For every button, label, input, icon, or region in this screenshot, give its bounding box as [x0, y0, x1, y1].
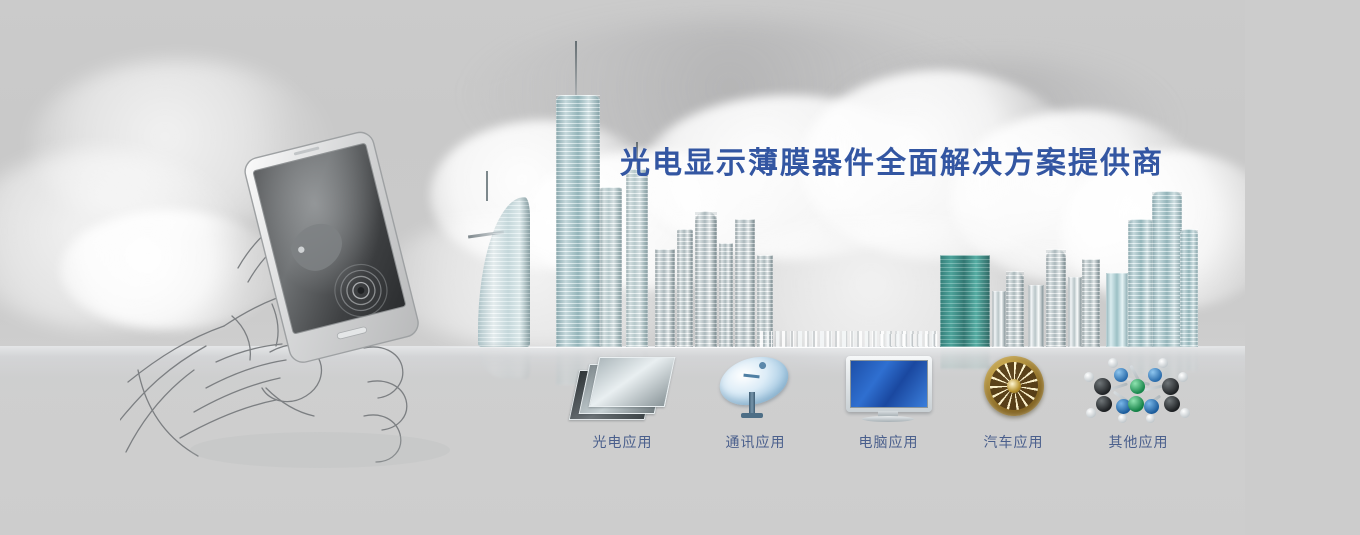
steel-tower-4	[719, 243, 733, 347]
wheel-rim-icon	[951, 352, 1076, 424]
steel-tower-2-floors	[677, 229, 693, 347]
right-tower-6	[1082, 259, 1100, 347]
molecule-atom-carbon-1	[1094, 378, 1111, 395]
application-item-communication[interactable]: 通讯应用	[693, 352, 818, 462]
application-item-computer[interactable]: 电脑应用	[826, 352, 951, 462]
monitor-screen	[850, 360, 928, 408]
right-tower-7	[1106, 273, 1128, 347]
molecule-atom-metal-2	[1128, 396, 1144, 412]
right-tower-6-floors	[1082, 259, 1100, 347]
monitor-bezel	[846, 356, 932, 412]
right-tower-2-floors	[1006, 271, 1024, 347]
main-tower-floors	[556, 95, 600, 347]
dish-feed-arm	[743, 374, 759, 379]
main-tower	[556, 95, 600, 347]
satellite-dish-icon	[693, 352, 818, 424]
mid-tower-b	[626, 169, 648, 347]
steel-tower-4-floors	[719, 243, 733, 347]
application-label-computer: 电脑应用	[826, 432, 951, 452]
steel-tower-5	[735, 219, 755, 347]
application-item-automotive[interactable]: 汽车应用	[951, 352, 1076, 462]
wheel-hub	[1007, 379, 1021, 393]
smartphone	[242, 129, 421, 365]
molecule-atom-hydrogen-8	[1146, 414, 1155, 423]
molecule-atom-carbon-3	[1162, 378, 1179, 395]
molecule-atom-metal-1	[1130, 379, 1145, 394]
right-tall-tower-c	[1180, 229, 1198, 347]
application-label-automotive: 汽车应用	[951, 432, 1076, 452]
banner-artwork: 光电显示薄膜器件全面解决方案提供商 光电应用	[0, 0, 1245, 535]
banner-right-filler	[1245, 0, 1360, 535]
application-item-optoelectronic[interactable]: 光电应用	[560, 352, 685, 462]
monitor-icon	[826, 352, 951, 424]
hand-phone-svg	[120, 120, 480, 490]
mid-tower-a-floors	[600, 187, 622, 347]
right-tall-tower-c-floors	[1180, 229, 1198, 347]
monitor-base	[862, 416, 914, 422]
right-tall-tower-b-floors	[1152, 191, 1182, 347]
steel-tower-2	[677, 229, 693, 347]
main-tower-spire	[575, 41, 577, 97]
dish-base	[741, 413, 763, 418]
molecule-atom-hydrogen-5	[1108, 358, 1118, 368]
right-tower-4-floors	[1046, 249, 1066, 347]
molecule-atom-carbon-4	[1164, 396, 1180, 412]
hand-shadow	[190, 432, 450, 468]
film-panel-front	[589, 357, 676, 407]
molecule-atom-nitrogen-4	[1148, 368, 1162, 382]
right-tall-tower-a	[1128, 219, 1154, 347]
right-tower-3	[1028, 285, 1044, 347]
molecule-atom-hydrogen-4	[1180, 408, 1190, 418]
sail-tower	[478, 197, 530, 347]
sail-mast	[486, 171, 488, 201]
application-label-communication: 通讯应用	[693, 432, 818, 452]
molecule-model	[1082, 352, 1194, 422]
molecule-atom-hydrogen-6	[1158, 358, 1168, 368]
steel-tower-3	[695, 211, 717, 347]
steel-tower-3-floors	[695, 211, 717, 347]
molecule-atom-hydrogen-2	[1086, 408, 1096, 418]
right-tall-tower-a-floors	[1128, 219, 1154, 347]
molecule-atom-hydrogen-1	[1084, 372, 1094, 382]
page-title: 光电显示薄膜器件全面解决方案提供商	[620, 138, 1164, 182]
steel-tower-1	[655, 249, 675, 347]
teal-tower-floors	[940, 255, 990, 347]
hero-banner: 光电显示薄膜器件全面解决方案提供商 光电应用	[0, 0, 1360, 535]
film-panels-icon	[560, 352, 685, 424]
application-row: 光电应用 通讯应用	[560, 352, 1210, 472]
steel-tower-5-floors	[735, 219, 755, 347]
application-label-other: 其他应用	[1076, 432, 1201, 452]
wheel-rim	[984, 356, 1044, 416]
right-tall-tower-b	[1152, 191, 1182, 347]
application-label-optoelectronic: 光电应用	[560, 432, 685, 452]
molecule-icon	[1076, 352, 1201, 424]
right-tower-4	[1046, 249, 1066, 347]
molecule-atom-hydrogen-7	[1118, 414, 1127, 423]
mid-tower-b-floors	[626, 169, 648, 347]
molecule-atom-nitrogen-3	[1114, 368, 1128, 382]
mid-tower-a	[600, 187, 622, 347]
steel-tower-1-floors	[655, 249, 675, 347]
teal-tower	[940, 255, 990, 347]
right-tower-5	[1068, 277, 1082, 347]
application-item-other[interactable]: 其他应用	[1076, 352, 1201, 462]
sail-floors	[478, 197, 530, 347]
molecule-atom-carbon-2	[1096, 396, 1112, 412]
right-tower-1	[992, 291, 1006, 347]
hand-phone-illustration	[120, 120, 480, 490]
molecule-atom-hydrogen-3	[1178, 372, 1188, 382]
molecule-atom-nitrogen-2	[1144, 399, 1159, 414]
right-tower-2	[1006, 271, 1024, 347]
dish-feed-horn	[758, 361, 767, 370]
